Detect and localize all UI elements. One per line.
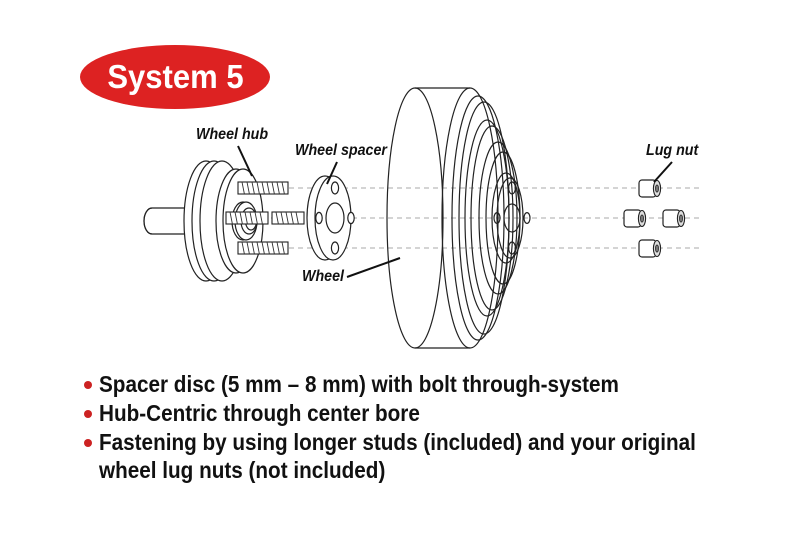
lug-nut — [639, 180, 661, 197]
list-item-text: Spacer disc (5 mm – 8 mm) with bolt thro… — [99, 370, 619, 398]
list-item: Spacer disc (5 mm – 8 mm) with bolt thro… — [84, 370, 764, 398]
bullet-dot-icon — [84, 381, 92, 389]
label-wheel-spacer: Wheel spacer — [295, 142, 387, 160]
list-item: Hub-Centric through center bore — [84, 399, 764, 427]
lug-nuts — [624, 180, 685, 257]
lug-nut — [663, 210, 685, 227]
lug-nut — [624, 210, 646, 227]
diagram-page: System 5 Wheel hub Wheel spacer Wheel Lu… — [0, 0, 800, 533]
label-lug-nut: Lug nut — [646, 142, 698, 160]
bullet-dot-icon — [84, 439, 92, 447]
badge-label: System 5 — [107, 58, 243, 96]
wheel-studs — [226, 182, 304, 254]
label-wheel: Wheel — [302, 268, 344, 286]
feature-list: Spacer disc (5 mm – 8 mm) with bolt thro… — [84, 370, 764, 485]
bullet-dot-icon — [84, 410, 92, 418]
label-wheel-hub: Wheel hub — [196, 126, 268, 144]
lug-nut — [639, 240, 661, 257]
wheel-spacer — [307, 176, 354, 260]
list-item-text: Fastening by using longer studs (include… — [99, 428, 696, 484]
list-item-text: Hub-Centric through center bore — [99, 399, 420, 427]
list-item: Fastening by using longer studs (include… — [84, 428, 764, 484]
system-badge: System 5 — [80, 45, 270, 109]
